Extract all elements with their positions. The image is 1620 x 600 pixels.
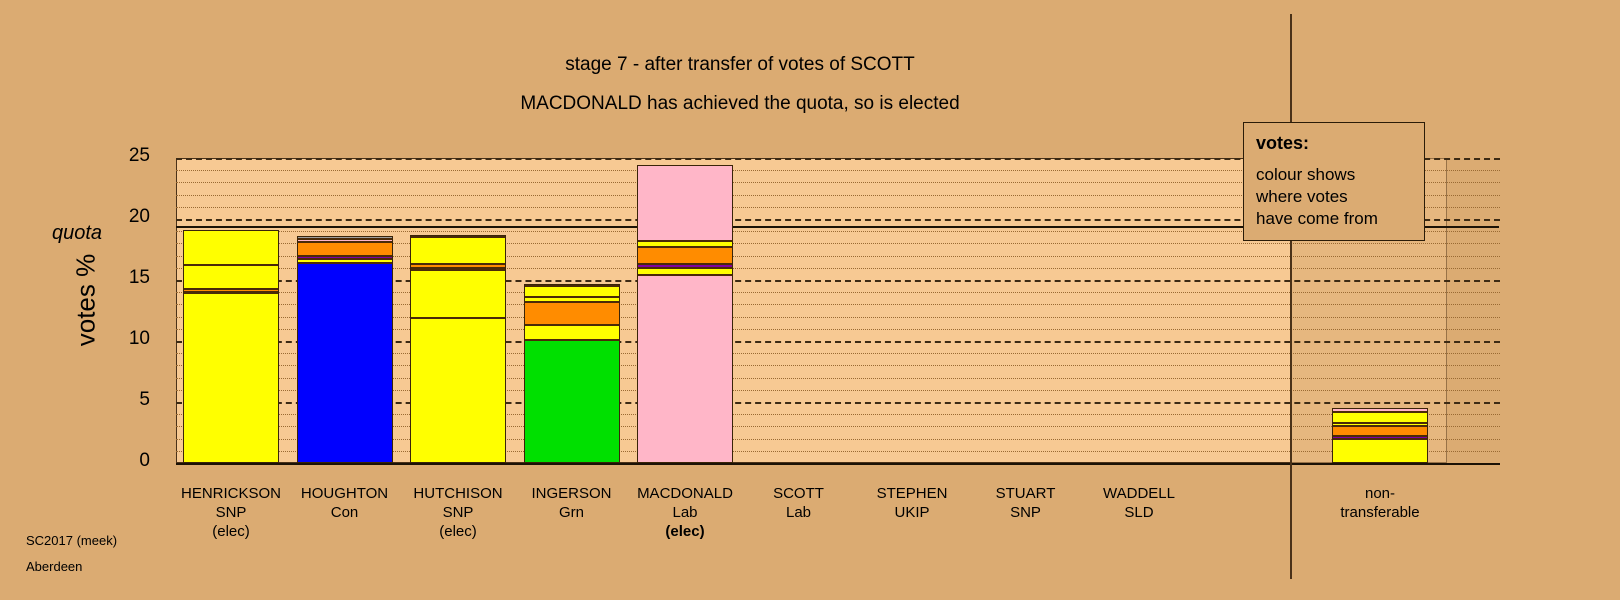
legend-line-2: where votes (1256, 186, 1424, 208)
x-axis-label-non-transferable: non-transferable (1290, 484, 1470, 522)
footer-line-2: Aberdeen (26, 554, 117, 580)
bar-segment-yellow (183, 230, 279, 265)
legend-description: colour shows where votes have come from (1256, 164, 1424, 230)
y-axis-label: votes % (71, 254, 102, 347)
footer: SC2017 (meek) Aberdeen (26, 528, 117, 580)
candidate-status: (elec) (610, 522, 760, 541)
bar-segment-blue (297, 263, 393, 463)
bar-segment-orange (297, 242, 393, 255)
bar-segment-yellow (183, 265, 279, 288)
bar-segment-yellow (1332, 412, 1428, 423)
bar-houghton[interactable] (297, 236, 393, 463)
bar-segment-yellow (524, 286, 620, 297)
chart-subtitle: MACDONALD has achieved the quota, so is … (0, 93, 1480, 115)
chart-title: stage 7 - after transfer of votes of SCO… (0, 54, 1480, 76)
bar-segment-orange (637, 247, 733, 264)
candidate-status: (elec) (156, 522, 306, 541)
bar-segment-yellow (410, 270, 506, 318)
quota-label: quota (52, 222, 102, 245)
candidate-party: SLD (1064, 503, 1214, 522)
bar-segment-orange (524, 302, 620, 325)
y-tick-label: 5 (90, 389, 150, 411)
legend-line-1: colour shows (1256, 164, 1424, 186)
footer-line-1: SC2017 (meek) (26, 528, 117, 554)
legend-box: votes: colour shows where votes have com… (1243, 122, 1425, 241)
chart-canvas: stage 7 - after transfer of votes of SCO… (0, 0, 1620, 600)
non-transferable-line-2: transferable (1290, 503, 1470, 522)
legend-line-3: have come from (1256, 208, 1424, 230)
candidate-status: (elec) (383, 522, 533, 541)
x-axis-baseline (176, 463, 1500, 465)
bar-segment-yellow (524, 325, 620, 340)
bar-henrickson[interactable] (183, 230, 279, 463)
bar-hutchison[interactable] (410, 235, 506, 463)
bar-ingerson[interactable] (524, 284, 620, 463)
bar-segment-yellow (637, 268, 733, 275)
y-tick-label: 25 (90, 145, 150, 167)
bar-macdonald[interactable] (637, 165, 733, 463)
x-axis-label-waddell: WADDELLSLD (1064, 484, 1214, 522)
bar-segment-pink (637, 275, 733, 463)
bar-non-transferable[interactable] (1332, 408, 1428, 463)
bar-segment-yellow (183, 293, 279, 463)
bar-segment-yellow (410, 318, 506, 463)
candidate-name: WADDELL (1064, 484, 1214, 503)
bar-segment-pink (637, 165, 733, 241)
bar-segment-green (524, 340, 620, 463)
bar-segment-yellow (1332, 439, 1428, 463)
y-tick-label: 0 (90, 450, 150, 472)
bar-segment-yellow (410, 237, 506, 264)
bar-segment-orange (1332, 426, 1428, 436)
legend-title: votes: (1256, 133, 1424, 154)
non-transferable-line-1: non- (1290, 484, 1470, 503)
